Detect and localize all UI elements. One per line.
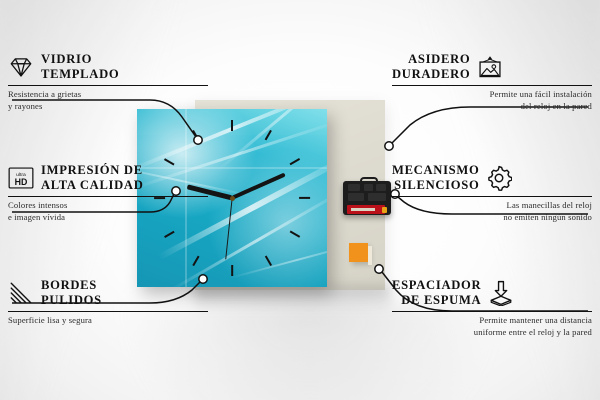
feature-rule — [392, 85, 592, 87]
feature-desc-line2: y rayones — [8, 101, 43, 111]
feature-title-line1: ASIDERO — [408, 52, 470, 66]
foam-spacer-pad — [349, 243, 368, 262]
feature-title-line1: ESPACIADOR — [392, 278, 481, 292]
feature-asidero-duradero: ASIDERO DURADERO Permite una fácil insta… — [392, 52, 592, 112]
feature-vidrio-templado: VIDRIO TEMPLADO Resistencia a grietas y … — [8, 52, 208, 112]
feature-title-line2: TEMPLADO — [41, 67, 119, 81]
feature-rule — [8, 311, 208, 313]
svg-text:HD: HD — [15, 177, 28, 187]
feature-impresion-alta-calidad: ultra HD IMPRESIÓN DE ALTA CALIDAD Color… — [8, 163, 208, 223]
polished-edge-icon — [8, 280, 34, 306]
picture-hanger-icon — [477, 54, 503, 80]
feature-desc-line1: Las manecillas del reloj — [507, 200, 592, 210]
feature-desc-line1: Permite mantener una distancia — [479, 315, 592, 325]
feature-rule — [8, 196, 208, 198]
feature-title-line1: MECANISMO — [392, 163, 479, 177]
feature-espaciador-de-espuma: ESPACIADOR DE ESPUMA Permite mantener un… — [392, 278, 592, 338]
foam-spacer-icon — [488, 280, 514, 306]
feature-desc-line2: e imagen vívida — [8, 212, 65, 222]
feature-desc-line1: Resistencia a grietas — [8, 89, 81, 99]
feature-title-line1: BORDES — [41, 278, 97, 292]
mechanism-battery — [347, 205, 385, 214]
feature-title-line2: PULIDOS — [41, 293, 102, 307]
clock-mechanism — [343, 177, 391, 217]
feature-title-line2: DURADERO — [392, 67, 470, 81]
diamond-icon — [8, 54, 34, 80]
feature-desc-line2: del reloj en la pared — [521, 101, 592, 111]
gear-icon — [486, 165, 512, 191]
feature-bordes-pulidos: BORDES PULIDOS Superficie lisa y segura — [8, 278, 208, 327]
mechanism-body — [343, 181, 391, 215]
feature-title-line2: SILENCIOSO — [394, 178, 479, 192]
infographic-canvas: VIDRIO TEMPLADO Resistencia a grietas y … — [0, 0, 600, 400]
feature-title-line2: ALTA CALIDAD — [41, 178, 144, 192]
feature-rule — [392, 311, 592, 313]
feature-title-line1: VIDRIO — [41, 52, 92, 66]
feature-rule — [392, 196, 592, 198]
feature-rule — [8, 85, 208, 87]
feature-desc-line1: Colores intensos — [8, 200, 67, 210]
feature-title-line1: IMPRESIÓN DE — [41, 163, 143, 177]
wall-panel-shadow — [195, 285, 391, 311]
feature-title-line2: DE ESPUMA — [401, 293, 481, 307]
clock-center-pin — [230, 196, 235, 201]
ultra-hd-icon: ultra HD — [8, 165, 34, 191]
feature-mecanismo-silencioso: MECANISMO SILENCIOSO Las manecillas del … — [392, 163, 592, 223]
feature-desc-line2: no emiten ningún sonido — [503, 212, 592, 222]
feature-desc-line1: Superficie lisa y segura — [8, 315, 92, 325]
feature-desc-line2: uniforme entre el reloj y la pared — [474, 327, 592, 337]
feature-desc-line1: Permite una fácil instalación — [490, 89, 592, 99]
